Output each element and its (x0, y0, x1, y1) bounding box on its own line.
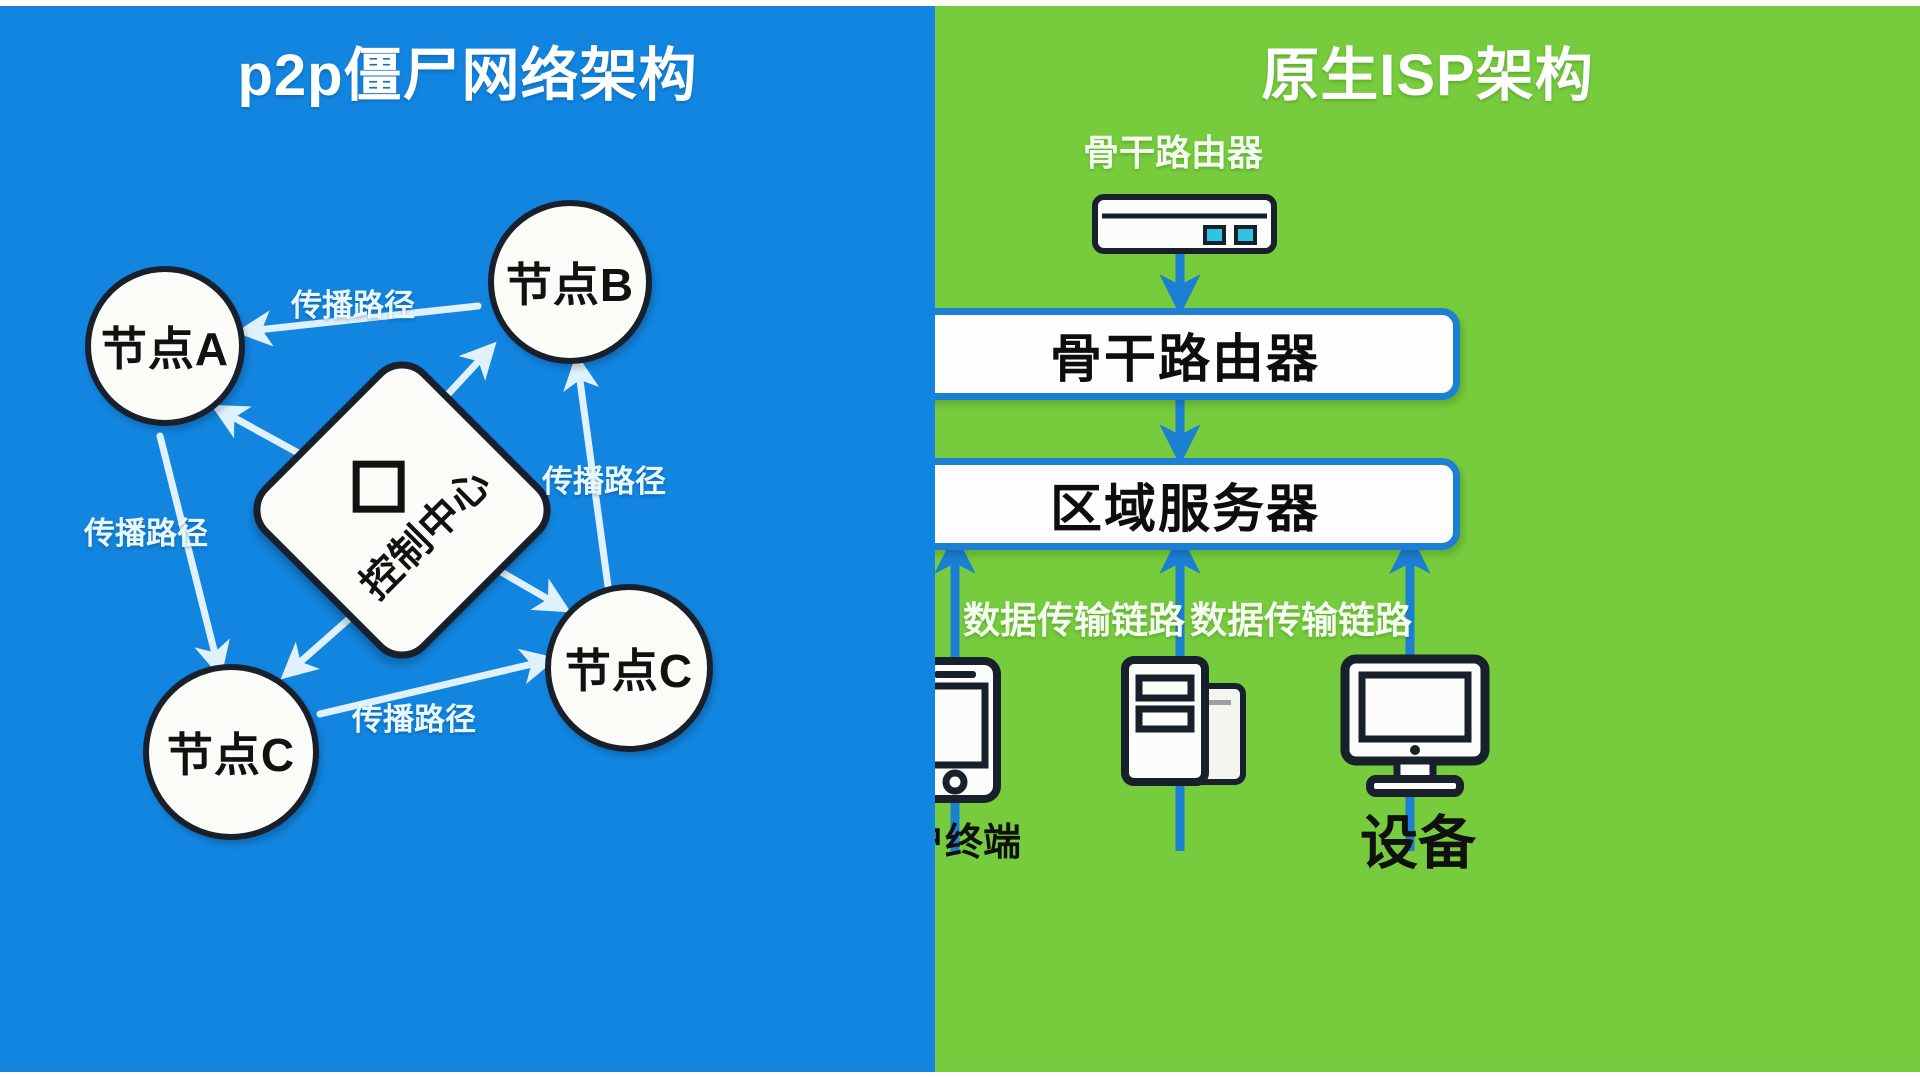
device-monitor-label: 设备 (1360, 796, 1476, 880)
node-a[interactable]: 节点A (85, 266, 245, 426)
box-backbone-router-label: 骨干路由器 (1050, 317, 1320, 392)
device-phone-label: 用户终端 (935, 811, 1021, 866)
right-panel-isp-architecture: 原生ISP架构 骨干路由器 (935, 6, 1920, 1072)
left-panel-p2p-botnet: p2p僵尸网络架构 (0, 6, 935, 1072)
backbone-router-icon[interactable] (1092, 194, 1277, 254)
box-regional-server-label: 区域服务器 (1050, 467, 1320, 542)
data-link-label-1: 数据传输链路 (963, 590, 1185, 644)
smartphone-icon (935, 656, 1002, 804)
control-center-node[interactable]: 控制中心 (287, 395, 517, 625)
router-icon-svg (1092, 194, 1277, 254)
edge-label-b-to-a: 传播路径 (291, 280, 415, 325)
node-c-bottom-left-label: 节点C (167, 719, 295, 785)
backbone-router-icon-label: 骨干路由器 (1083, 124, 1263, 176)
edge-label-hub-to-c-left: 传播路径 (84, 508, 208, 553)
node-a-label: 节点A (101, 313, 229, 379)
edge-label-c-to-b: 传播路径 (542, 456, 666, 501)
node-b-label: 节点B (506, 249, 634, 315)
node-b[interactable]: 节点B (488, 200, 652, 364)
device-server[interactable] (1121, 656, 1266, 801)
server-tower-icon (1121, 656, 1266, 801)
desktop-monitor-icon (1340, 654, 1490, 799)
node-c-right[interactable]: 节点C (545, 584, 713, 752)
device-phone[interactable] (935, 656, 1002, 804)
edge-label-cleft-to-cright: 传播路径 (352, 694, 476, 739)
data-link-label-2: 数据传输链路 (1190, 590, 1412, 644)
box-regional-server[interactable]: 区域服务器 (935, 458, 1460, 550)
device-monitor[interactable] (1340, 654, 1490, 799)
control-center-diamond-shape (239, 347, 564, 672)
diagram-canvas: p2p僵尸网络架构 (0, 0, 1920, 1078)
node-c-right-label: 节点C (565, 635, 693, 701)
node-c-bottom-left[interactable]: 节点C (143, 664, 319, 840)
box-backbone-router[interactable]: 骨干路由器 (935, 308, 1460, 400)
